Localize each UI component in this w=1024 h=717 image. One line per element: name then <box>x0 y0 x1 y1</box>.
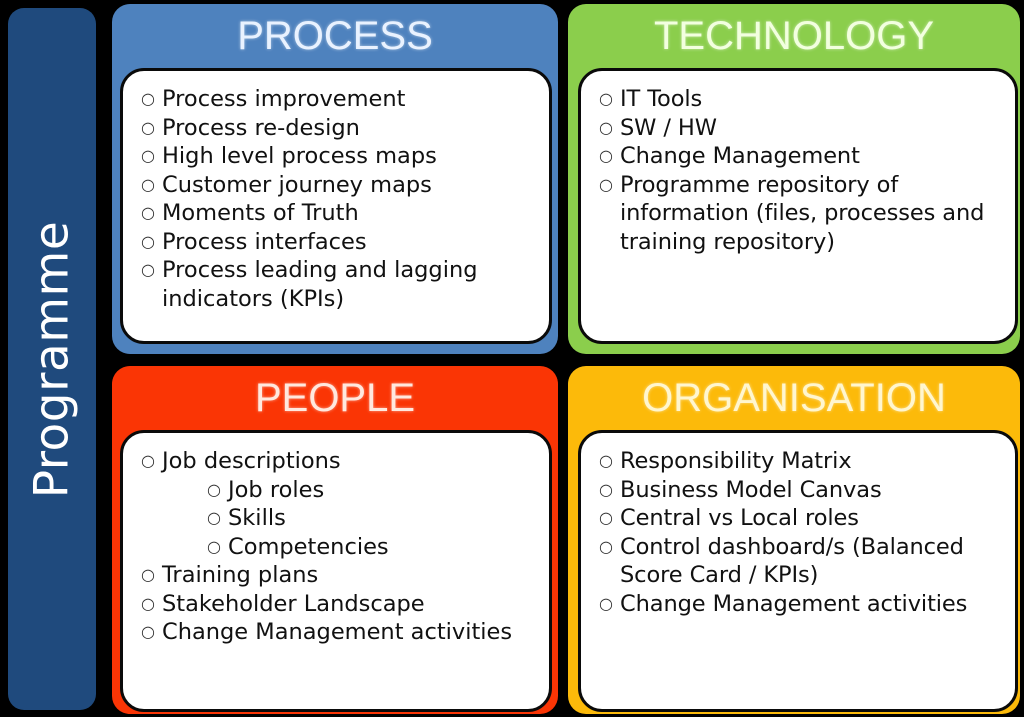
bullet-item-label: Job descriptions <box>159 447 535 476</box>
bullet-circle-icon: ○ <box>141 590 159 619</box>
bullet-item: ○Change Management activities <box>141 618 535 647</box>
bullet-item-label: Programme repository of information (fil… <box>617 171 1001 257</box>
bullet-circle-icon: ○ <box>599 590 617 619</box>
programme-sidebar-label: Programme <box>25 220 80 498</box>
bullet-item-label: Moments of Truth <box>159 199 535 228</box>
bullet-list-people: ○Job descriptions○Job roles○Skills○Compe… <box>123 433 549 647</box>
diagram-canvas: Programme PROCESS ○Process improvement○P… <box>0 0 1024 717</box>
bullet-circle-icon: ○ <box>141 228 159 257</box>
bullet-item: ○Change Management <box>599 142 1001 171</box>
bullet-circle-icon: ○ <box>599 114 617 143</box>
bullet-item-label: Competencies <box>225 533 535 562</box>
bullet-list-technology: ○IT Tools○SW / HW○Change Management○Prog… <box>581 71 1015 256</box>
bullet-item-label: Change Management activities <box>617 590 1001 619</box>
bullet-item: ○Business Model Canvas <box>599 476 1001 505</box>
bullet-list-process: ○Process improvement○Process re-design○H… <box>123 71 549 313</box>
bullet-item: ○Control dashboard/s (Balanced Score Car… <box>599 533 1001 590</box>
bullet-circle-icon: ○ <box>141 199 159 228</box>
bullet-item-label: SW / HW <box>617 114 1001 143</box>
bullet-item: ○Competencies <box>207 533 535 562</box>
bullet-item: ○Programme repository of information (fi… <box>599 171 1001 257</box>
bullet-item: ○Process improvement <box>141 85 535 114</box>
bullet-item-label: Stakeholder Landscape <box>159 590 535 619</box>
bullet-circle-icon: ○ <box>599 476 617 505</box>
quadrant-title-people: PEOPLE <box>112 372 558 424</box>
bullet-item: ○Process leading and lagging indicators … <box>141 256 535 313</box>
bullet-item: ○Process re-design <box>141 114 535 143</box>
quadrant-title-technology: TECHNOLOGY <box>568 10 1020 62</box>
bullet-item-label: Change Management <box>617 142 1001 171</box>
bullet-circle-icon: ○ <box>141 114 159 143</box>
bullet-item: ○Change Management activities <box>599 590 1001 619</box>
bullet-item: ○Skills <box>207 504 535 533</box>
bullet-item-label: Responsibility Matrix <box>617 447 1001 476</box>
programme-sidebar: Programme <box>8 8 96 710</box>
quadrant-title-organisation: ORGANISATION <box>568 372 1020 424</box>
quadrant-title-process: PROCESS <box>112 10 558 62</box>
bullet-item-label: High level process maps <box>159 142 535 171</box>
bullet-circle-icon: ○ <box>141 256 159 285</box>
bullet-circle-icon: ○ <box>141 561 159 590</box>
bullet-item-label: Control dashboard/s (Balanced Score Card… <box>617 533 1001 590</box>
quadrant-card-technology: ○IT Tools○SW / HW○Change Management○Prog… <box>578 68 1018 344</box>
bullet-item: ○Training plans <box>141 561 535 590</box>
bullet-item-label: IT Tools <box>617 85 1001 114</box>
bullet-item: ○Responsibility Matrix <box>599 447 1001 476</box>
quadrant-card-people: ○Job descriptions○Job roles○Skills○Compe… <box>120 430 552 712</box>
bullet-circle-icon: ○ <box>141 447 159 476</box>
bullet-item-label: Business Model Canvas <box>617 476 1001 505</box>
bullet-item: ○Central vs Local roles <box>599 504 1001 533</box>
bullet-item-label: Process improvement <box>159 85 535 114</box>
bullet-item-label: Change Management activities <box>159 618 535 647</box>
bullet-item: ○IT Tools <box>599 85 1001 114</box>
bullet-circle-icon: ○ <box>599 533 617 562</box>
bullet-item: ○Process interfaces <box>141 228 535 257</box>
bullet-item-label: Training plans <box>159 561 535 590</box>
bullet-circle-icon: ○ <box>207 476 225 505</box>
bullet-circle-icon: ○ <box>141 618 159 647</box>
bullet-circle-icon: ○ <box>141 171 159 200</box>
bullet-item: ○Moments of Truth <box>141 199 535 228</box>
bullet-circle-icon: ○ <box>599 171 617 200</box>
bullet-item-label: Job roles <box>225 476 535 505</box>
bullet-item-label: Process leading and lagging indicators (… <box>159 256 535 313</box>
bullet-circle-icon: ○ <box>599 504 617 533</box>
bullet-item: ○Job roles <box>207 476 535 505</box>
bullet-item-label: Central vs Local roles <box>617 504 1001 533</box>
bullet-item-label: Process re-design <box>159 114 535 143</box>
bullet-item: ○Customer journey maps <box>141 171 535 200</box>
bullet-item: ○Stakeholder Landscape <box>141 590 535 619</box>
bullet-circle-icon: ○ <box>207 533 225 562</box>
bullet-circle-icon: ○ <box>207 504 225 533</box>
bullet-item-label: Process interfaces <box>159 228 535 257</box>
bullet-item: ○SW / HW <box>599 114 1001 143</box>
bullet-item-label: Customer journey maps <box>159 171 535 200</box>
bullet-circle-icon: ○ <box>599 142 617 171</box>
bullet-item: ○High level process maps <box>141 142 535 171</box>
bullet-list-organisation: ○Responsibility Matrix○Business Model Ca… <box>581 433 1015 618</box>
bullet-circle-icon: ○ <box>599 447 617 476</box>
quadrant-card-organisation: ○Responsibility Matrix○Business Model Ca… <box>578 430 1018 712</box>
bullet-item: ○Job descriptions <box>141 447 535 476</box>
bullet-circle-icon: ○ <box>141 142 159 171</box>
bullet-item-label: Skills <box>225 504 535 533</box>
bullet-circle-icon: ○ <box>599 85 617 114</box>
bullet-circle-icon: ○ <box>141 85 159 114</box>
quadrant-card-process: ○Process improvement○Process re-design○H… <box>120 68 552 344</box>
